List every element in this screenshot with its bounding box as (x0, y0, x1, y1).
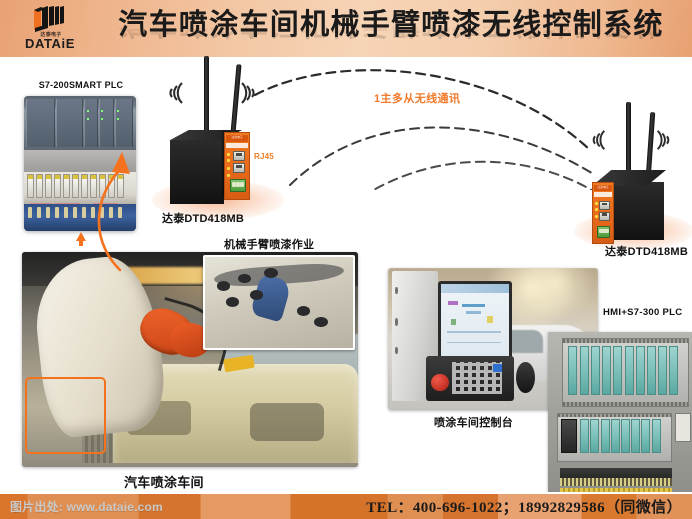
page-header: 达泰电子 DATAiE 汽车喷涂车间机械手臂喷漆无线控制系统 汽车喷涂车间机械手… (0, 0, 692, 57)
footer-source-text: 图片出处: www.dataie.com (10, 498, 163, 515)
page-title-reflection: 汽车喷涂车间机械手臂喷漆无线控制系统 (96, 22, 686, 40)
footer-telephone-text: TEL：400-696-1022；18992829586（同微信） (366, 496, 682, 517)
wireless-communication-label: 1主多从无线通讯 (374, 90, 460, 106)
page-footer: 图片出处: www.dataie.com TEL：400-696-1022；18… (0, 492, 692, 519)
wifi-wave-right-icon-2 (654, 128, 678, 152)
highlight-region-box (25, 377, 106, 454)
label-robot-painting: 机械手臂喷漆作业 (224, 236, 314, 252)
poster-root: 达泰电子 DATAiE 汽车喷涂车间机械手臂喷漆无线控制系统 汽车喷涂车间机械手… (0, 0, 692, 519)
wifi-wave-left-icon-2 (584, 128, 608, 152)
photo-plc-cabinet (548, 332, 692, 494)
brand-logo: 达泰电子 DATAiE (14, 4, 86, 54)
label-hmi-plc: HMI+S7-300 PLC (603, 307, 682, 318)
rj45-port-label: RJ45 (254, 152, 274, 161)
photo-robot-painting (22, 252, 358, 467)
device-slave-dtd418mb: 达泰电子 (578, 96, 690, 266)
photo-inset-car-panel (203, 255, 354, 350)
plc-left-label: S7-200SMART PLC (18, 80, 144, 90)
logo-brand-text: DATAiE (14, 37, 86, 51)
device-slave-caption: 达泰DTD418MB (605, 243, 688, 259)
wifi-wave-left-icon (160, 80, 186, 106)
label-control-console: 喷涂车间控制台 (434, 414, 513, 430)
callout-curve-arrow-icon (84, 150, 180, 272)
wifi-wave-right-icon (238, 80, 264, 106)
dataie-logo-icon (28, 6, 72, 32)
label-paint-workshop: 汽车喷涂车间 (124, 472, 204, 491)
